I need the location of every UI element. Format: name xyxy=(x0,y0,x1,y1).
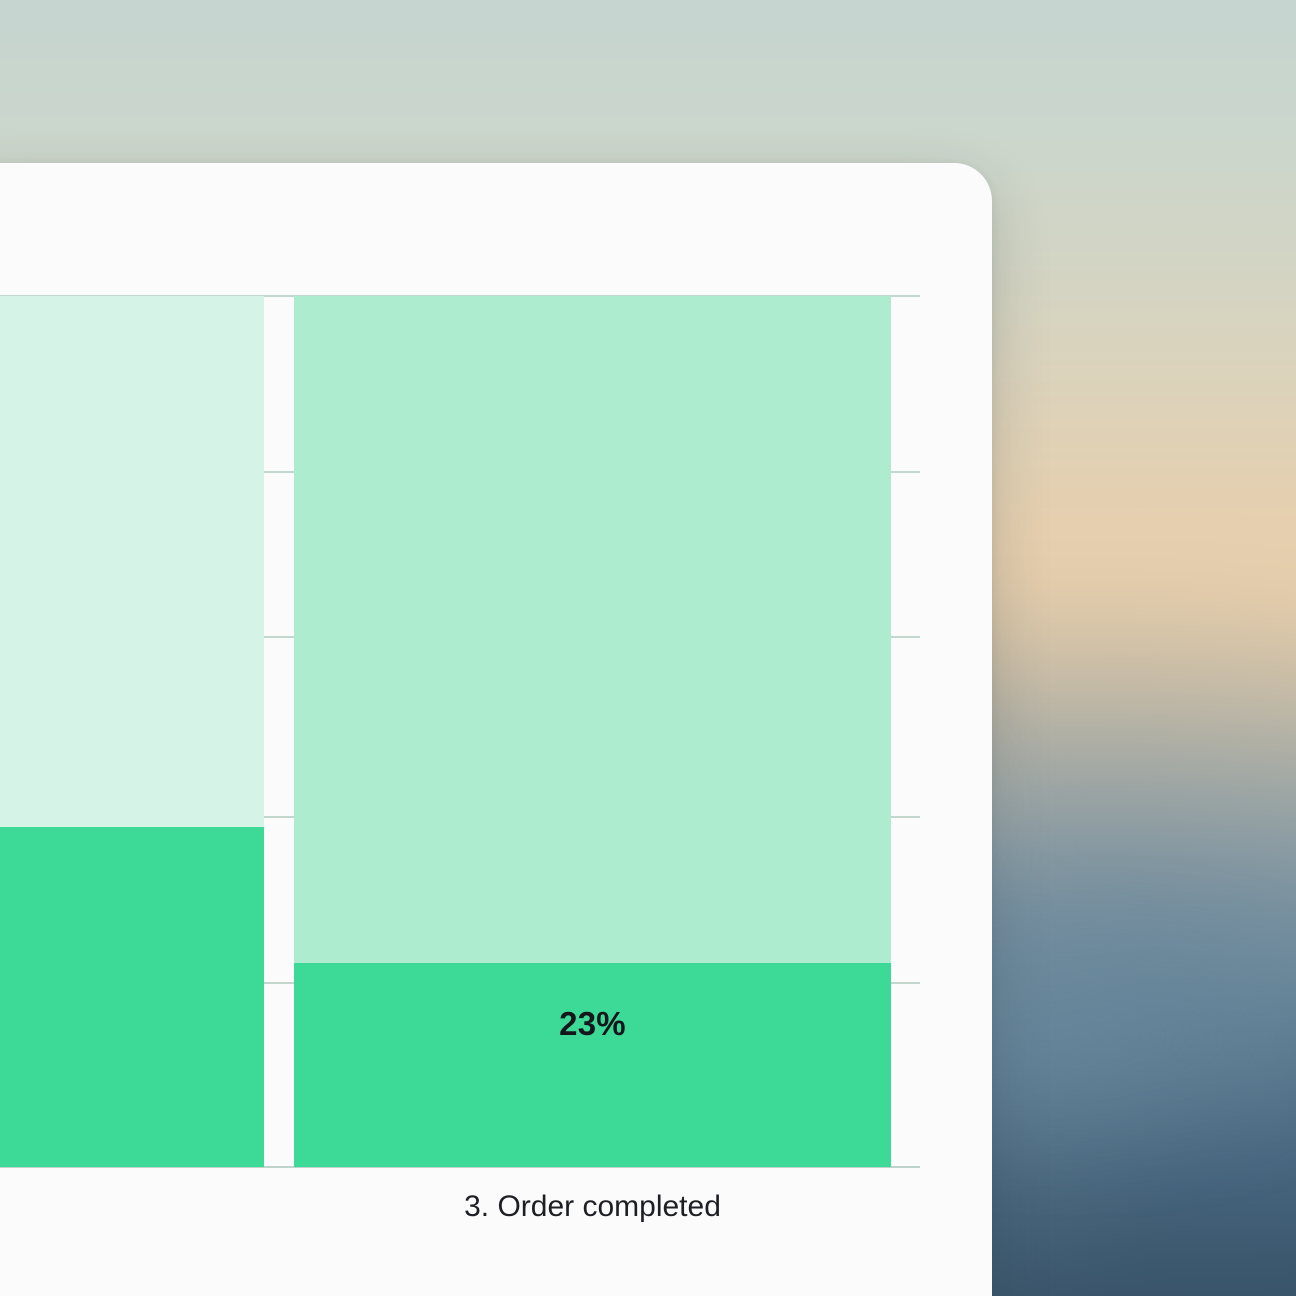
screenshot-root: 23% 3. Order completed xyxy=(0,0,1296,1296)
bar-value-order-completed: 23% xyxy=(294,1007,891,1040)
bar-order-completed[interactable]: 23% xyxy=(294,296,891,1167)
chart-plot-area: 23% 3. Order completed xyxy=(0,0,992,1296)
axis-label-order-completed: 3. Order completed xyxy=(294,1192,891,1222)
bar-fill-order-completed xyxy=(294,963,891,1167)
bar-fill-checkout-started xyxy=(0,827,264,1167)
bar-checkout-started[interactable] xyxy=(0,296,264,1167)
